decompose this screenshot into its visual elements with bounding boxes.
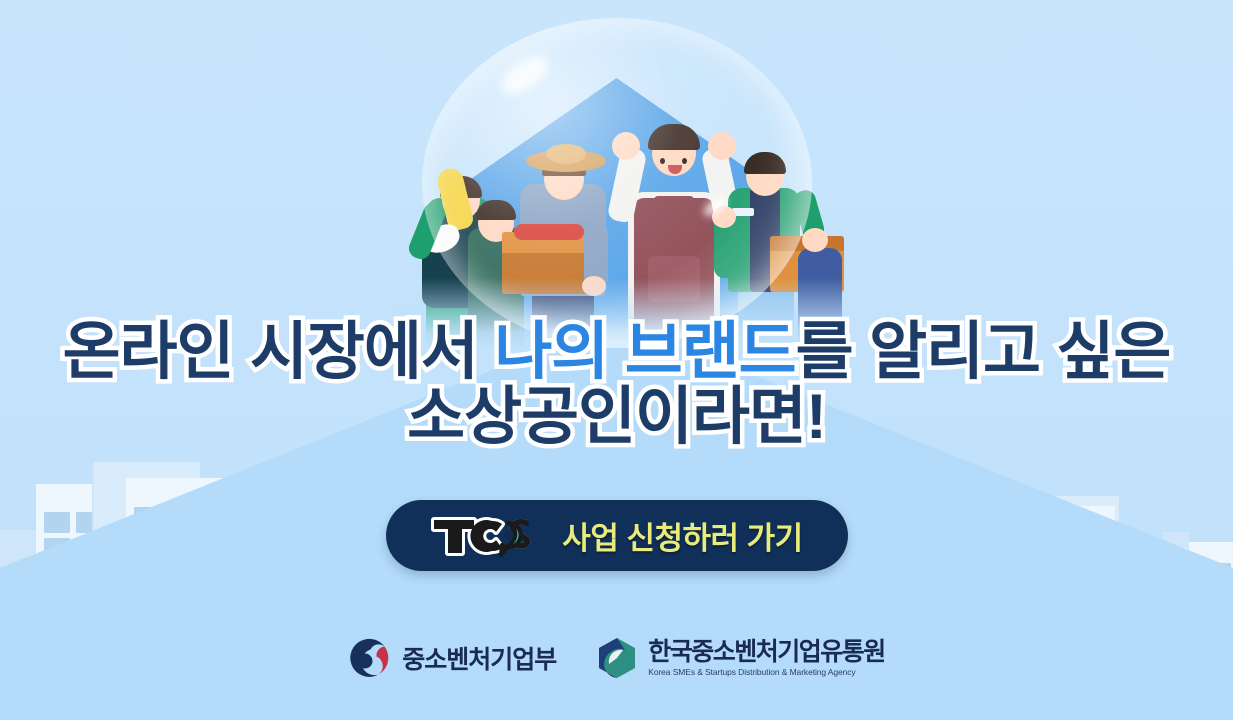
bubble-highlight-icon [495,49,554,101]
taegeuk-icon [348,636,392,680]
apply-cta-button[interactable]: 사업 신청하러 가기 [386,500,848,571]
headline-line-1: 온라인 시장에서 나의 브랜드를 알리고 싶은 [0,320,1233,385]
agency-logo: 한국중소벤처기업유통원 Korea SMEs & Startups Distri… [596,636,885,680]
headline: 온라인 시장에서 나의 브랜드를 알리고 싶은 소상공인이라면! [0,320,1233,450]
agency-name-en: Korea SMEs & Startups Distribution & Mar… [648,667,885,677]
agency-name-ko: 한국중소벤처기업유통원 [648,639,885,665]
headline-line-2: 소상공인이라면! [0,385,1233,450]
ministry-logo: 중소벤처기업부 [348,636,556,680]
cta-label: 사업 신청하러 가기 [562,513,802,558]
ministry-name: 중소벤처기업부 [402,640,556,676]
banner-stage: 온라인 시장에서 나의 브랜드를 알리고 싶은 소상공인이라면! 사업 신청하러… [0,0,1233,720]
figure-farmer [506,112,624,348]
figure-group [402,98,832,348]
headline-line-1-pre: 온라인 시장에서 [63,317,495,387]
hero-illustration [402,18,832,348]
headline-line-1-post: 를 알리고 싶은 [796,317,1171,387]
headline-accent: 나의 브랜드 [494,317,795,387]
footer-logos: 중소벤처기업부 한국중소벤처기업유통원 Korea SMEs & Startup… [0,636,1233,680]
kosme-hexagon-icon [596,636,638,680]
tcps-logo [430,513,546,559]
